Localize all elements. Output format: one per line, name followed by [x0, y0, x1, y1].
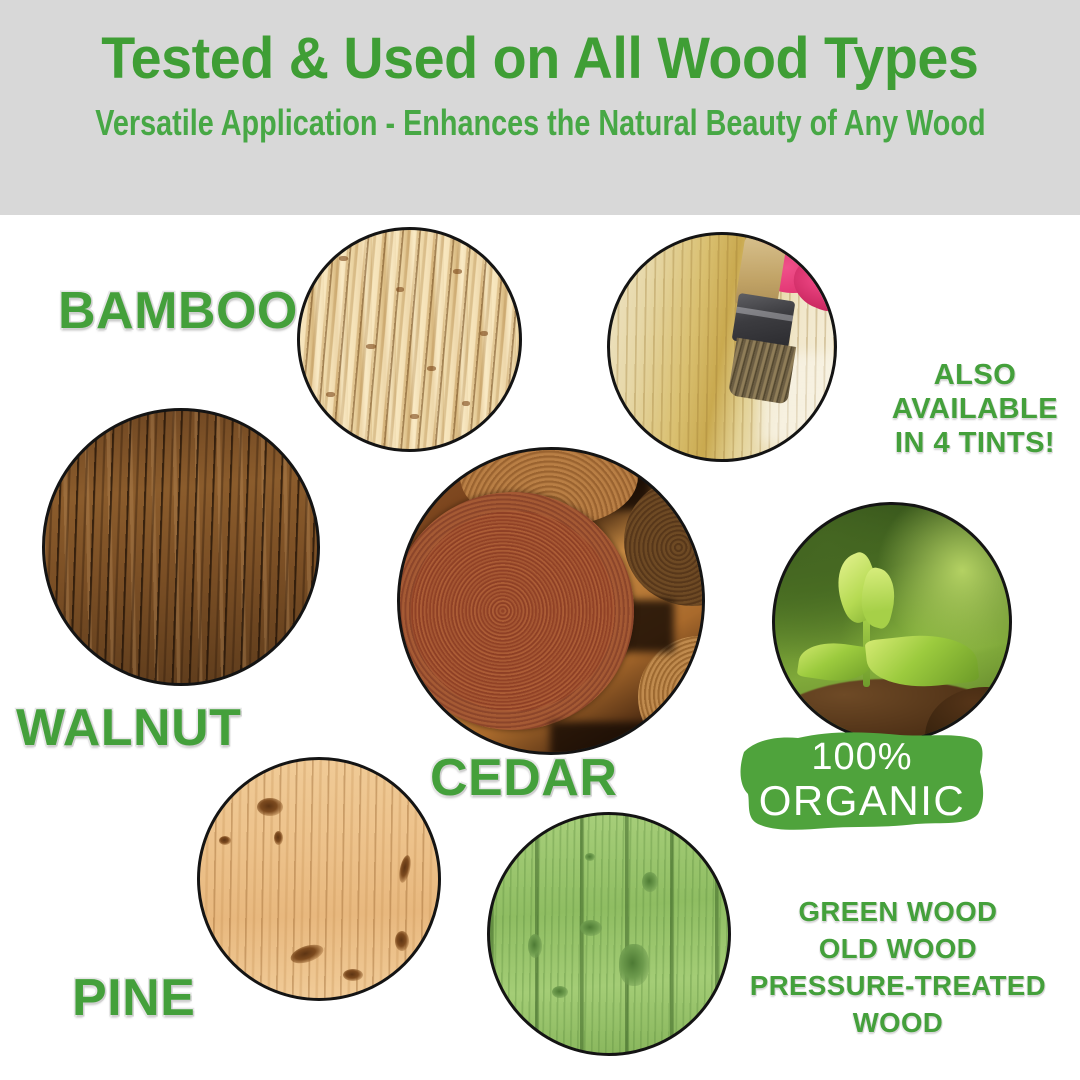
badge-percent: 100% [811, 738, 912, 776]
other-wood-line-2: OLD WOOD [716, 930, 1080, 967]
wood-label-walnut: WALNUT [16, 698, 241, 758]
other-wood-line-3: PRESSURE-TREATED [716, 967, 1080, 1004]
infographic-page: Tested & Used on All Wood Types Versatil… [0, 0, 1080, 1080]
tints-line-1: ALSO [870, 358, 1080, 392]
page-title: Tested & Used on All Wood Types [101, 30, 978, 88]
organic-badge: 100% ORGANIC [736, 726, 988, 834]
seedling-leaf-left [797, 638, 874, 686]
pine-photo-circle [197, 757, 441, 1001]
bamboo-photo-circle [297, 227, 522, 452]
brush-bristles [728, 338, 796, 405]
other-wood-line-4: WOOD [716, 1004, 1080, 1041]
organic-badge-text: 100% ORGANIC [736, 726, 988, 834]
other-wood-line-1: GREEN WOOD [716, 893, 1080, 930]
tints-line-3: IN 4 TINTS! [870, 426, 1080, 460]
cedar-photo-circle [397, 447, 705, 755]
also-available-tints-note: ALSO AVAILABLE IN 4 TINTS! [870, 358, 1080, 461]
page-subtitle: Versatile Application - Enhances the Nat… [95, 105, 985, 141]
wood-label-bamboo: BAMBOO [58, 281, 298, 341]
green-wood-photo-circle [487, 812, 731, 1056]
badge-organic: ORGANIC [759, 780, 966, 822]
header-band: Tested & Used on All Wood Types Versatil… [0, 0, 1080, 215]
wood-label-pine: PINE [72, 968, 195, 1028]
stain-application-photo-circle [607, 232, 837, 462]
cedar-log-main [397, 492, 634, 730]
tints-line-2: AVAILABLE [870, 392, 1080, 426]
wood-label-cedar: CEDAR [430, 748, 617, 808]
organic-plant-photo-circle [772, 502, 1012, 742]
walnut-photo-circle [42, 408, 320, 686]
other-wood-types-note: GREEN WOOD OLD WOOD PRESSURE-TREATED WOO… [716, 893, 1080, 1042]
